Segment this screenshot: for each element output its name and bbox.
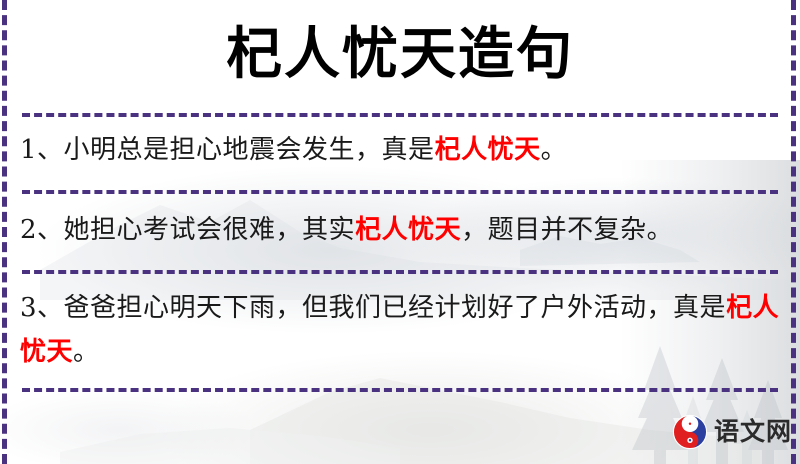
- sentence-number-3: 3、: [20, 293, 64, 323]
- sentence-text-after-2: ，题目并不复杂。: [461, 215, 673, 245]
- divider-after-line-1: [22, 190, 778, 194]
- site-logo: 语文网: [672, 412, 792, 452]
- sentence-text-after-1: 。: [541, 135, 568, 165]
- sentence-text-before-2: 她担心考试会很难，其实: [64, 215, 356, 245]
- divider-after-line-2: [22, 270, 778, 274]
- sentence-number-1: 1、: [20, 135, 64, 165]
- sentence-item-2: 2、她担心考试会很难，其实杞人忧天，题目并不复杂。: [20, 208, 782, 252]
- sentence-text-before-1: 小明总是担心地震会发生，真是: [64, 135, 435, 165]
- page-title: 杞人忧天造句: [0, 18, 800, 90]
- sentence-item-1: 1、小明总是担心地震会发生，真是杞人忧天。: [20, 128, 782, 172]
- worksheet-page: 杞人忧天造句 1、小明总是担心地震会发生，真是杞人忧天。 2、她担心考试会很难，…: [0, 0, 800, 464]
- sentence-item-3: 3、爸爸担心明天下雨，但我们已经计划好了户外活动，真是杞人忧天。: [20, 286, 782, 374]
- divider-after-line-3: [22, 388, 778, 392]
- site-logo-text: 语文网: [714, 414, 792, 450]
- sentence-text-after-3: 。: [73, 337, 100, 367]
- sentence-text-before-3: 爸爸担心明天下雨，但我们已经计划好了户外活动，真是: [64, 293, 727, 323]
- highlighted-idiom-2: 杞人忧天: [355, 215, 461, 245]
- sentence-number-2: 2、: [20, 215, 64, 245]
- highlighted-idiom-1: 杞人忧天: [435, 135, 541, 165]
- divider-below-title: [22, 113, 778, 117]
- yin-yang-fish-logo-icon: [672, 414, 708, 450]
